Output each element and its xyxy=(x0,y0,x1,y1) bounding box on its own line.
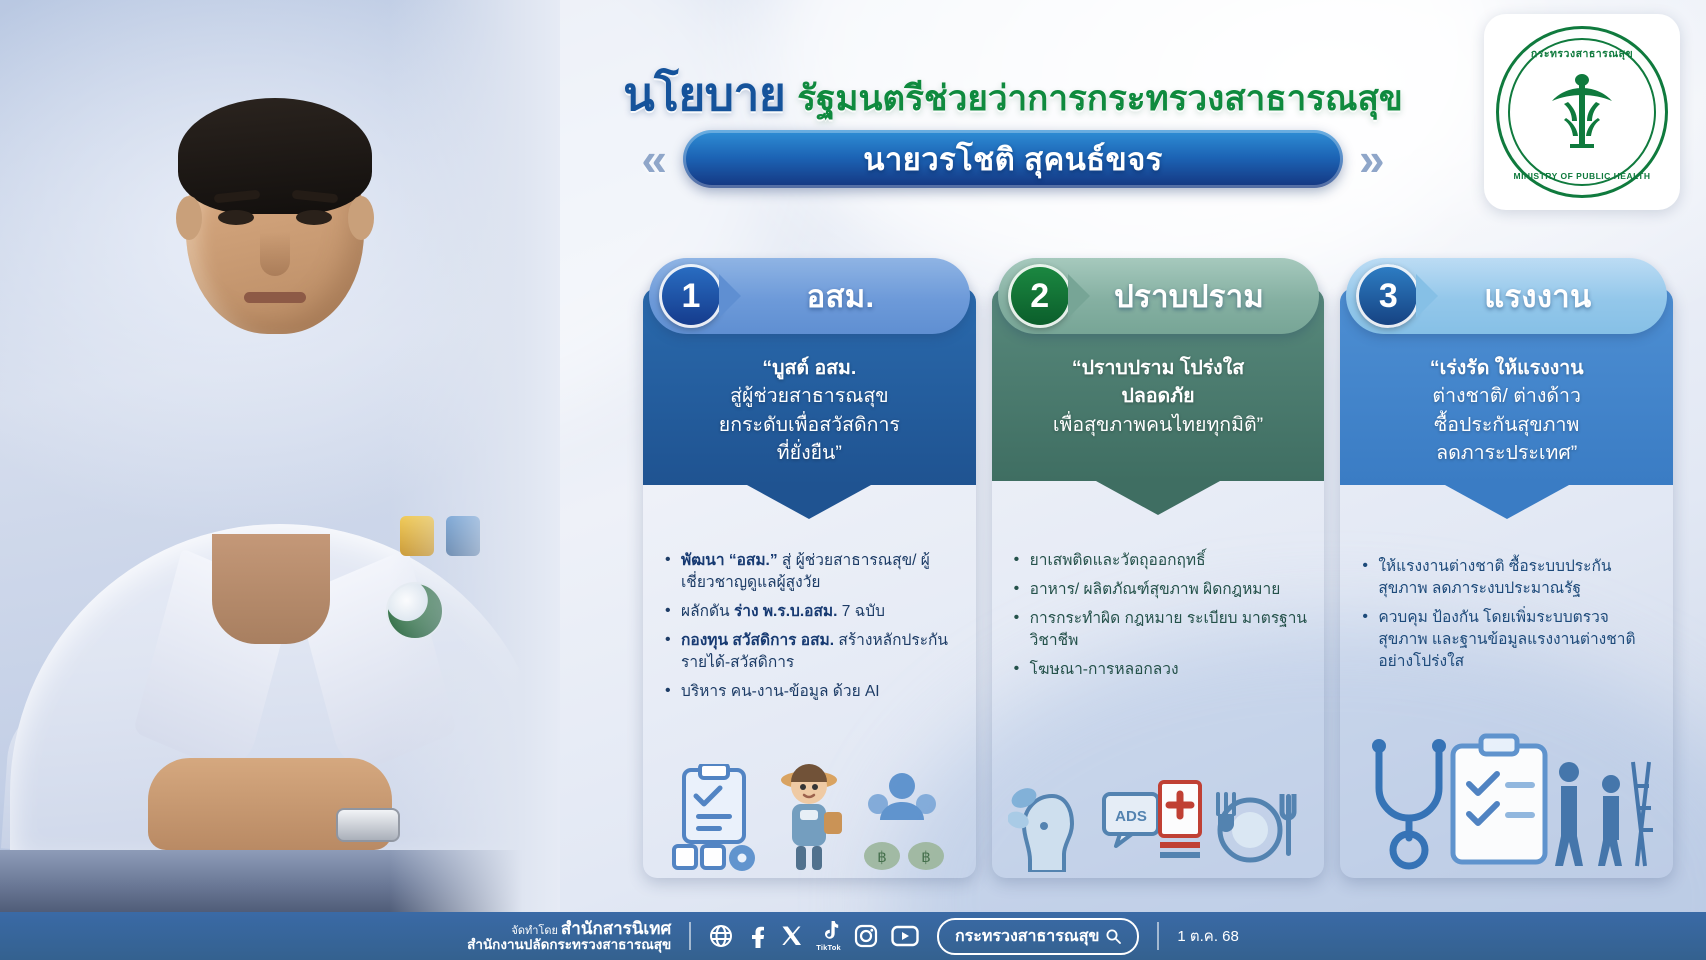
policy-cards: “บูสต์ อสม. สู่ผู้ช่วยสาธารณสุข ยกระดับเ… xyxy=(643,258,1673,878)
ministry-seal-icon: กระทรวงสาธารณสุข MINISTRY OF PUBLIC xyxy=(1496,26,1668,198)
footer-divider-2 xyxy=(1157,922,1159,950)
website-icon[interactable] xyxy=(709,924,733,948)
policy-card-2-number-badge: 2 xyxy=(1008,264,1072,328)
policy-card-2-label: ปราบปราม xyxy=(1072,271,1319,321)
policy-card-1-quote-line-4: ที่ยั่งยืน” xyxy=(657,439,962,467)
policy-card-1-quote-line-2: สู่ผู้ช่วยสาธารณสุข xyxy=(657,382,962,410)
infographic-canvas: นโยบายรัฐมนตรีช่วยว่าการกระทรวงสาธารณสุข… xyxy=(0,0,1706,960)
page-title-main: นโยบาย xyxy=(623,68,785,120)
header: นโยบายรัฐมนตรีช่วยว่าการกระทรวงสาธารณสุข… xyxy=(560,0,1706,250)
policy-card-3-body: “เร่งรัด ให้แรงงาน ต่างชาติ/ ต่างด้าว ซื… xyxy=(1340,288,1673,878)
portrait-ear-right xyxy=(348,196,374,240)
policy-card-3-illustration xyxy=(1340,722,1673,872)
list-item: ผลักดัน ร่าง พ.ร.บ.อสม. 7 ฉบับ xyxy=(663,601,960,623)
portrait-hair xyxy=(178,98,372,214)
list-item: พัฒนา “อสม.” สู่ ผู้ช่วยสาธารณสุข/ ผู้เช… xyxy=(663,550,960,594)
policy-card-3-quote-line-4: ลดภาระประเทศ” xyxy=(1354,439,1659,467)
policy-card-1-label: อสม. xyxy=(723,271,970,321)
x-icon[interactable] xyxy=(781,925,803,947)
minister-name-pill: นายวรโชติ สุคนธ์ขจร xyxy=(683,130,1343,188)
tiktok-icon[interactable]: TikTok xyxy=(816,921,841,952)
list-item: ยาเสพติดและวัตถุออกฤทธิ์ xyxy=(1012,550,1309,572)
portrait-edge-fade xyxy=(390,0,560,912)
ministry-search-pill-text: กระทรวงสาธารณสุข xyxy=(955,924,1099,949)
policy-card-3-quote-line-2: ต่างชาติ/ ต่างด้าว xyxy=(1354,382,1659,410)
tiktok-label: TikTok xyxy=(816,943,841,952)
list-item: ควบคุม ป้องกัน โดยเพิ่มระบบตรวจสุขภาพ แล… xyxy=(1360,607,1657,673)
policy-card-3[interactable]: “เร่งรัด ให้แรงงาน ต่างชาติ/ ต่างด้าว ซื… xyxy=(1340,258,1673,878)
publish-date: 1 ต.ค. 68 xyxy=(1177,924,1238,948)
minister-name-row: « นายวรโชติ สุคนธ์ขจร » xyxy=(560,128,1466,190)
seal-bottom-label: MINISTRY OF PUBLIC HEALTH xyxy=(1499,171,1665,181)
policy-card-1-header[interactable]: 1 อสม. xyxy=(649,258,970,334)
footer-bar: จัดทำโดยสำนักสารนิเทศ สำนักงานปลัดกระทรว… xyxy=(0,912,1706,960)
bullet-1-bold: พัฒนา “อสม.” xyxy=(681,552,778,569)
policy-card-1-bullets: พัฒนา “อสม.” สู่ ผู้ช่วยสาธารณสุข/ ผู้เช… xyxy=(663,550,960,710)
policy-card-2[interactable]: “ปราบปราม โปร่งใส ปลอดภัย เพื่อสุขภาพคนไ… xyxy=(992,258,1325,878)
footer-social-links: TikTok xyxy=(709,921,919,952)
minister-portrait-photo xyxy=(0,0,560,912)
page-title: นโยบายรัฐมนตรีช่วยว่าการกระทรวงสาธารณสุข xyxy=(560,58,1466,131)
policy-card-2-quote-line-2: ปลอดภัย xyxy=(1006,382,1311,410)
portrait-nose xyxy=(260,232,290,276)
policy-card-3-header[interactable]: 3 แรงงาน xyxy=(1346,258,1667,334)
search-icon xyxy=(1106,929,1121,944)
list-item: กองทุน สวัสดิการ อสม. สร้างหลักประกันราย… xyxy=(663,630,960,674)
policy-card-3-number-badge: 3 xyxy=(1356,264,1420,328)
portrait-ear-left xyxy=(176,196,202,240)
policy-card-2-quote-line-3: เพื่อสุขภาพคนไทยทุกมิติ” xyxy=(1006,411,1311,439)
svg-text:ADS: ADS xyxy=(1115,808,1147,825)
bullet-3-bold: กองทุน สวัสดิการ อสม. xyxy=(681,632,834,649)
footer-credit-org: สำนักสารนิเทศ xyxy=(561,919,671,938)
list-item: ให้แรงงานต่างชาติ ซื้อระบบประกันสุขภาพ ล… xyxy=(1360,556,1657,600)
svg-text:฿: ฿ xyxy=(922,849,932,866)
list-item: บริหาร คน-งาน-ข้อมูล ด้วย AI xyxy=(663,681,960,703)
seal-caduceus-icon xyxy=(1532,62,1632,162)
policy-card-2-illustration: ADS xyxy=(992,742,1325,872)
policy-card-1-number-badge: 1 xyxy=(659,264,723,328)
footer-credit-prefix: จัดทำโดย xyxy=(511,925,558,937)
policy-card-2-quote-line-1: “ปราบปราม โปร่งใส xyxy=(1006,354,1311,382)
list-item: การกระทำผิด กฎหมาย ระเบียบ มาตรฐานวิชาชี… xyxy=(1012,608,1309,652)
portrait-mouth xyxy=(244,292,306,303)
policy-card-1-quote-line-3: ยกระดับเพื่อสวัสดิการ xyxy=(657,411,962,439)
bullet-2-bold: ร่าง พ.ร.บ.อสม. xyxy=(734,603,838,620)
policy-card-2-bullets: ยาเสพติดและวัตถุออกฤทธิ์ อาหาร/ ผลิตภัณฑ… xyxy=(1012,550,1309,688)
policy-card-1-body: “บูสต์ อสม. สู่ผู้ช่วยสาธารณสุข ยกระดับเ… xyxy=(643,288,976,878)
minister-name-text: นายวรโชติ สุคนธ์ขจร xyxy=(863,134,1162,184)
facebook-icon[interactable] xyxy=(746,924,768,948)
policy-card-3-quote-line-1: “เร่งรัด ให้แรงงาน xyxy=(1354,354,1659,382)
portrait-eye-right xyxy=(296,210,332,225)
policy-card-2-header[interactable]: 2 ปราบปราม xyxy=(998,258,1319,334)
svg-text:฿: ฿ xyxy=(878,849,888,866)
seal-top-label: กระทรวงสาธารณสุข xyxy=(1499,45,1665,62)
ministry-search-pill[interactable]: กระทรวงสาธารณสุข xyxy=(937,918,1139,955)
instagram-icon[interactable] xyxy=(854,924,878,948)
youtube-icon[interactable] xyxy=(891,925,919,947)
list-item: โฆษณา-การหลอกลวง xyxy=(1012,659,1309,681)
footer-credit: จัดทำโดยสำนักสารนิเทศ สำนักงานปลัดกระทรว… xyxy=(467,920,671,953)
policy-card-1[interactable]: “บูสต์ อสม. สู่ผู้ช่วยสาธารณสุข ยกระดับเ… xyxy=(643,258,976,878)
policy-card-1-quote-line-1: “บูสต์ อสม. xyxy=(657,354,962,382)
page-title-sub: รัฐมนตรีช่วยว่าการกระทรวงสาธารณสุข xyxy=(797,79,1403,118)
ministry-logo-plate: กระทรวงสาธารณสุข MINISTRY OF PUBLIC xyxy=(1484,14,1680,210)
footer-divider-1 xyxy=(689,922,691,950)
portrait-eye-left xyxy=(218,210,254,225)
policy-card-3-bullets: ให้แรงงานต่างชาติ ซื้อระบบประกันสุขภาพ ล… xyxy=(1360,556,1657,680)
policy-card-3-label: แรงงาน xyxy=(1420,271,1667,321)
policy-card-3-quote-line-3: ซื้อประกันสุขภาพ xyxy=(1354,411,1659,439)
portrait-neck xyxy=(212,534,330,644)
chevron-left-icon: « xyxy=(641,136,667,182)
list-item: อาหาร/ ผลิตภัณฑ์สุขภาพ ผิดกฎหมาย xyxy=(1012,579,1309,601)
chevron-right-icon: » xyxy=(1359,136,1385,182)
policy-card-1-illustration: ฿ ฿ xyxy=(643,742,976,872)
policy-card-2-body: “ปราบปราม โปร่งใส ปลอดภัย เพื่อสุขภาพคนไ… xyxy=(992,288,1325,878)
footer-credit-sub: สำนักงานปลัดกระทรวงสาธารณสุข xyxy=(467,938,671,953)
